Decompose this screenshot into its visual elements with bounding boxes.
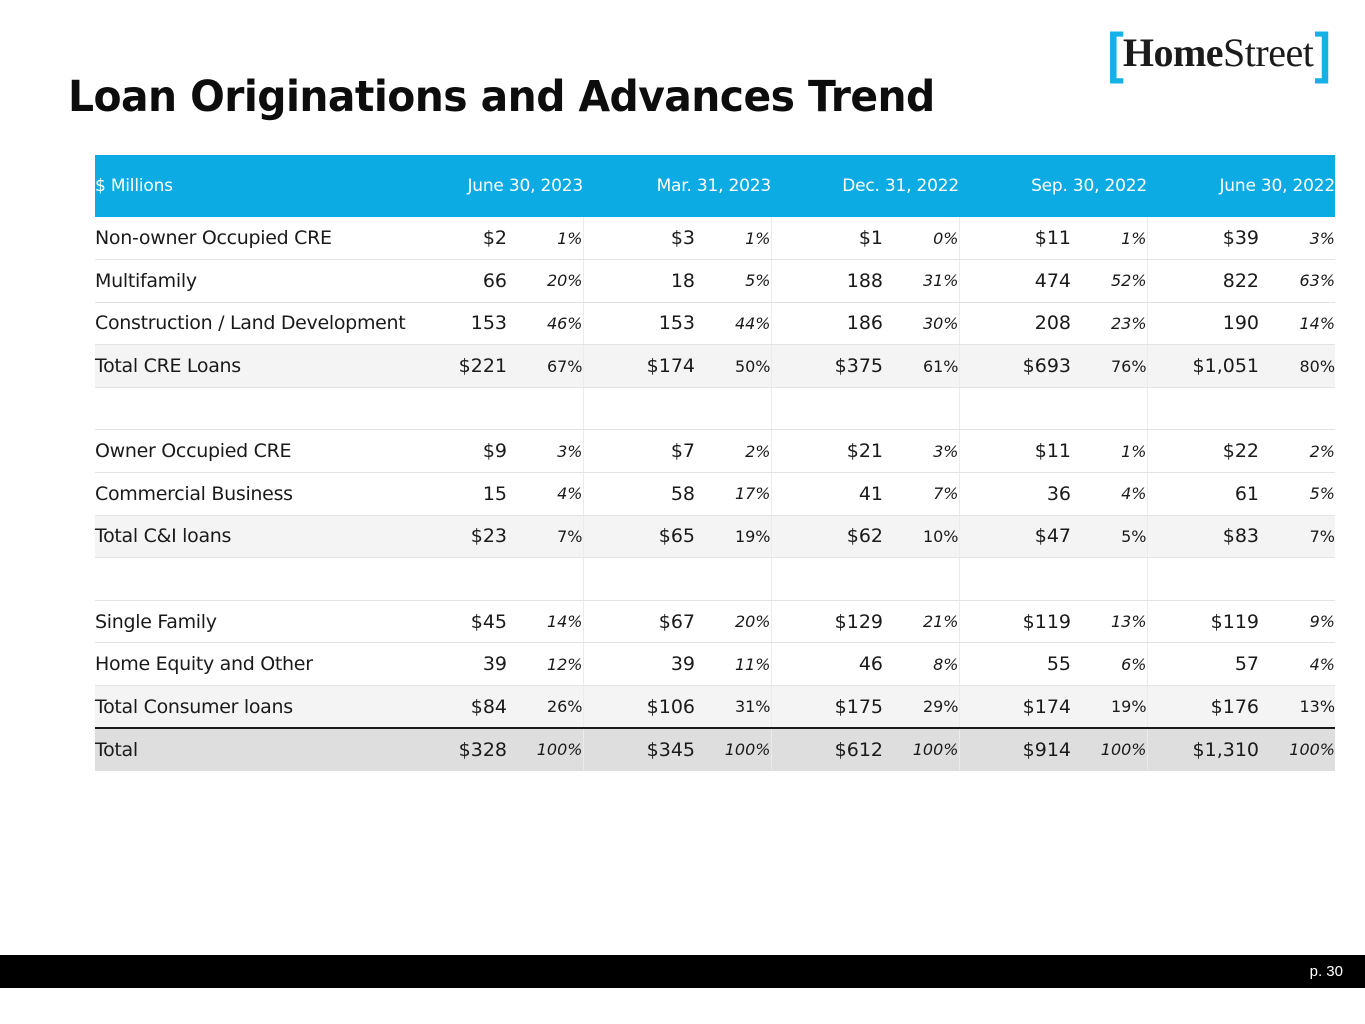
cell-amount: 190: [1147, 302, 1259, 345]
cell-amount: [959, 558, 1071, 601]
cell-amount: $345: [583, 728, 695, 771]
cell-amount: 186: [771, 302, 883, 345]
row-label: Total C&I loans: [95, 515, 395, 558]
cell-amount: $1,051: [1147, 345, 1259, 388]
cell-percent: 3%: [1259, 217, 1335, 260]
cell-percent: 5%: [695, 260, 771, 303]
table-row: Construction / Land Development15346%153…: [95, 302, 1335, 345]
row-label: Owner Occupied CRE: [95, 430, 395, 473]
cell-amount: $83: [1147, 515, 1259, 558]
cell-percent: 80%: [1259, 345, 1335, 388]
cell-amount: $119: [1147, 600, 1259, 643]
column-header-period-0: June 30, 2023: [395, 155, 583, 217]
cell-percent: 19%: [695, 515, 771, 558]
cell-percent: 7%: [883, 473, 959, 516]
table-row: Total$328100%$345100%$612100%$914100%$1,…: [95, 728, 1335, 771]
cell-amount: $914: [959, 728, 1071, 771]
cell-amount: $221: [395, 345, 507, 388]
cell-percent: 4%: [1071, 473, 1147, 516]
cell-percent: 31%: [695, 686, 771, 729]
cell-amount: $67: [583, 600, 695, 643]
cell-percent: 100%: [1071, 728, 1147, 771]
cell-amount: $84: [395, 686, 507, 729]
table-header-row: $ Millions June 30, 2023 Mar. 31, 2023 D…: [95, 155, 1335, 217]
cell-percent: 23%: [1071, 302, 1147, 345]
cell-percent: 13%: [1071, 600, 1147, 643]
row-label: [95, 387, 395, 430]
cell-percent: 100%: [695, 728, 771, 771]
cell-amount: 39: [583, 643, 695, 686]
cell-percent: 61%: [883, 345, 959, 388]
cell-amount: [771, 558, 883, 601]
cell-percent: 0%: [883, 217, 959, 260]
cell-amount: $11: [959, 217, 1071, 260]
loan-originations-table: $ Millions June 30, 2023 Mar. 31, 2023 D…: [95, 155, 1335, 771]
cell-percent: 14%: [507, 600, 583, 643]
page-title: Loan Originations and Advances Trend: [68, 72, 935, 122]
cell-percent: 76%: [1071, 345, 1147, 388]
cell-amount: 208: [959, 302, 1071, 345]
table-body: Non-owner Occupied CRE$21%$31%$10%$111%$…: [95, 217, 1335, 771]
table-row: Home Equity and Other3912%3911%468%556%5…: [95, 643, 1335, 686]
cell-amount: $7: [583, 430, 695, 473]
table-row: Commercial Business154%5817%417%364%615%: [95, 473, 1335, 516]
cell-amount: 15: [395, 473, 507, 516]
cell-percent: [695, 558, 771, 601]
row-label: Total CRE Loans: [95, 345, 395, 388]
table-row: Total CRE Loans$22167%$17450%$37561%$693…: [95, 345, 1335, 388]
logo-bracket-left-icon: [: [1107, 25, 1122, 81]
row-label: Construction / Land Development: [95, 302, 395, 345]
column-header-period-3: Sep. 30, 2022: [959, 155, 1147, 217]
row-label: Non-owner Occupied CRE: [95, 217, 395, 260]
logo-word-home: Home: [1123, 33, 1223, 73]
cell-amount: [1147, 387, 1259, 430]
cell-percent: 21%: [883, 600, 959, 643]
cell-percent: 52%: [1071, 260, 1147, 303]
table-row: Multifamily6620%185%18831%47452%82263%: [95, 260, 1335, 303]
cell-amount: [959, 387, 1071, 430]
cell-amount: $175: [771, 686, 883, 729]
column-header-unit: $ Millions: [95, 155, 395, 217]
cell-amount: 55: [959, 643, 1071, 686]
cell-amount: [583, 558, 695, 601]
cell-percent: 14%: [1259, 302, 1335, 345]
cell-amount: $11: [959, 430, 1071, 473]
cell-amount: $693: [959, 345, 1071, 388]
cell-amount: $39: [1147, 217, 1259, 260]
table-header: $ Millions June 30, 2023 Mar. 31, 2023 D…: [95, 155, 1335, 217]
cell-amount: 39: [395, 643, 507, 686]
column-header-period-1: Mar. 31, 2023: [583, 155, 771, 217]
cell-amount: $47: [959, 515, 1071, 558]
cell-amount: $1,310: [1147, 728, 1259, 771]
cell-percent: 17%: [695, 473, 771, 516]
cell-percent: [1071, 558, 1147, 601]
cell-percent: [1071, 387, 1147, 430]
cell-percent: 11%: [695, 643, 771, 686]
cell-amount: $23: [395, 515, 507, 558]
cell-amount: 822: [1147, 260, 1259, 303]
cell-amount: 61: [1147, 473, 1259, 516]
cell-percent: 5%: [1259, 473, 1335, 516]
cell-percent: 10%: [883, 515, 959, 558]
cell-percent: 30%: [883, 302, 959, 345]
cell-amount: 66: [395, 260, 507, 303]
cell-percent: 5%: [1071, 515, 1147, 558]
page-number: p. 30: [1310, 963, 1343, 980]
cell-amount: $375: [771, 345, 883, 388]
cell-percent: 13%: [1259, 686, 1335, 729]
cell-amount: 153: [583, 302, 695, 345]
cell-percent: 29%: [883, 686, 959, 729]
cell-amount: $106: [583, 686, 695, 729]
cell-amount: 18: [583, 260, 695, 303]
table-row: Single Family$4514%$6720%$12921%$11913%$…: [95, 600, 1335, 643]
cell-amount: 36: [959, 473, 1071, 516]
cell-amount: [395, 387, 507, 430]
cell-amount: 46: [771, 643, 883, 686]
cell-percent: 9%: [1259, 600, 1335, 643]
cell-percent: 3%: [883, 430, 959, 473]
cell-amount: 58: [583, 473, 695, 516]
cell-amount: $129: [771, 600, 883, 643]
table-row: Owner Occupied CRE$93%$72%$213%$111%$222…: [95, 430, 1335, 473]
cell-amount: $62: [771, 515, 883, 558]
table-spacer-row: [95, 558, 1335, 601]
row-label: Total: [95, 728, 395, 771]
cell-percent: 20%: [695, 600, 771, 643]
cell-percent: 7%: [1259, 515, 1335, 558]
cell-amount: $21: [771, 430, 883, 473]
cell-percent: 100%: [507, 728, 583, 771]
table-row: Total Consumer loans$8426%$10631%$17529%…: [95, 686, 1335, 729]
column-header-period-2: Dec. 31, 2022: [771, 155, 959, 217]
row-label: Single Family: [95, 600, 395, 643]
cell-percent: 3%: [507, 430, 583, 473]
logo-word-street: Street: [1223, 33, 1313, 73]
cell-percent: 1%: [1071, 430, 1147, 473]
homestreet-logo: [ Home Street ]: [1107, 28, 1329, 78]
cell-percent: 19%: [1071, 686, 1147, 729]
cell-amount: $45: [395, 600, 507, 643]
cell-percent: [1259, 558, 1335, 601]
column-header-period-4: June 30, 2022: [1147, 155, 1335, 217]
cell-amount: 41: [771, 473, 883, 516]
cell-percent: 44%: [695, 302, 771, 345]
cell-percent: 100%: [883, 728, 959, 771]
cell-amount: $1: [771, 217, 883, 260]
cell-percent: 63%: [1259, 260, 1335, 303]
cell-percent: 1%: [695, 217, 771, 260]
cell-percent: [507, 387, 583, 430]
cell-amount: $174: [583, 345, 695, 388]
cell-amount: $9: [395, 430, 507, 473]
cell-percent: 1%: [507, 217, 583, 260]
cell-amount: 153: [395, 302, 507, 345]
row-label: Multifamily: [95, 260, 395, 303]
cell-amount: $176: [1147, 686, 1259, 729]
cell-percent: 2%: [1259, 430, 1335, 473]
cell-amount: [771, 387, 883, 430]
cell-percent: 12%: [507, 643, 583, 686]
row-label: [95, 558, 395, 601]
cell-amount: 57: [1147, 643, 1259, 686]
cell-percent: 26%: [507, 686, 583, 729]
cell-amount: [1147, 558, 1259, 601]
cell-percent: 46%: [507, 302, 583, 345]
table-row: Non-owner Occupied CRE$21%$31%$10%$111%$…: [95, 217, 1335, 260]
cell-amount: [395, 558, 507, 601]
logo-bracket-right-icon: ]: [1314, 25, 1329, 81]
cell-percent: [1259, 387, 1335, 430]
cell-percent: 6%: [1071, 643, 1147, 686]
cell-percent: [695, 387, 771, 430]
row-label: Commercial Business: [95, 473, 395, 516]
cell-percent: 50%: [695, 345, 771, 388]
cell-percent: 7%: [507, 515, 583, 558]
cell-percent: 4%: [1259, 643, 1335, 686]
cell-percent: 100%: [1259, 728, 1335, 771]
cell-amount: 188: [771, 260, 883, 303]
cell-amount: $3: [583, 217, 695, 260]
cell-percent: 31%: [883, 260, 959, 303]
cell-percent: 2%: [695, 430, 771, 473]
cell-amount: $22: [1147, 430, 1259, 473]
cell-amount: $2: [395, 217, 507, 260]
cell-amount: $612: [771, 728, 883, 771]
cell-amount: $328: [395, 728, 507, 771]
cell-percent: [883, 387, 959, 430]
cell-percent: 67%: [507, 345, 583, 388]
footer-bar: [0, 955, 1365, 988]
row-label: Home Equity and Other: [95, 643, 395, 686]
cell-percent: 1%: [1071, 217, 1147, 260]
table-spacer-row: [95, 387, 1335, 430]
cell-percent: 8%: [883, 643, 959, 686]
row-label: Total Consumer loans: [95, 686, 395, 729]
cell-amount: 474: [959, 260, 1071, 303]
cell-amount: $119: [959, 600, 1071, 643]
cell-percent: [883, 558, 959, 601]
cell-amount: $174: [959, 686, 1071, 729]
cell-percent: [507, 558, 583, 601]
cell-percent: 4%: [507, 473, 583, 516]
cell-percent: 20%: [507, 260, 583, 303]
cell-amount: [583, 387, 695, 430]
cell-amount: $65: [583, 515, 695, 558]
table-row: Total C&I loans$237%$6519%$6210%$475%$83…: [95, 515, 1335, 558]
